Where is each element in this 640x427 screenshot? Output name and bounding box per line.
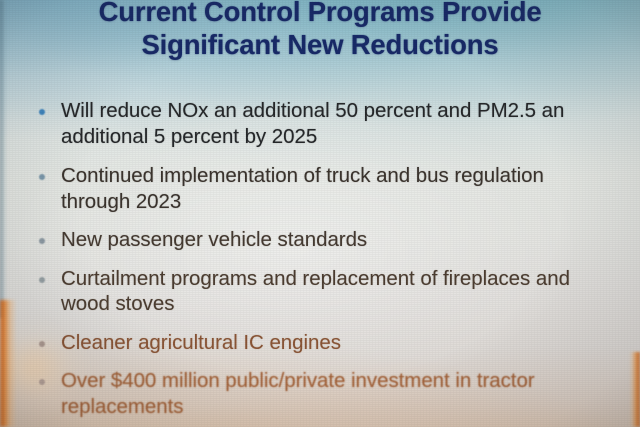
bullet-item-tractor-replacements: Over $400 million public/private investm… — [30, 368, 618, 419]
presentation-slide-photo: Current Control Programs Provide Signifi… — [0, 0, 640, 427]
bullet-list: Will reduce NOx an additional 50 percent… — [30, 98, 618, 419]
slide-content: Current Control Programs Provide Signifi… — [0, 0, 640, 427]
slide-title-line-1: Current Control Programs Provide — [0, 0, 640, 28]
bullet-item-agricultural-ic-engines: Cleaner agricultural IC engines — [30, 330, 618, 356]
bullet-dot-icon — [39, 109, 45, 115]
bullet-item-truck-bus-regulation: Continued implementation of truck and bu… — [30, 163, 618, 214]
slide-title: Current Control Programs Provide Signifi… — [0, 0, 640, 61]
bullet-text: Continued implementation of truck and bu… — [61, 163, 618, 214]
bullet-dot-icon — [39, 238, 45, 244]
bullet-text: New passenger vehicle standards — [61, 227, 618, 253]
bullet-item-curtailment-fireplaces: Curtailment programs and replacement of … — [30, 266, 618, 317]
bullet-dot-icon — [39, 379, 45, 385]
bullet-text: Will reduce NOx an additional 50 percent… — [61, 98, 618, 149]
bullet-dot-icon — [39, 341, 45, 347]
bullet-text: Cleaner agricultural IC engines — [61, 330, 618, 356]
slide-title-line-2: Significant New Reductions — [0, 28, 640, 61]
bullet-dot-icon — [39, 174, 45, 180]
bullet-item-passenger-vehicle-standards: New passenger vehicle standards — [30, 227, 618, 253]
bullet-dot-icon — [39, 277, 45, 283]
bullet-text: Curtailment programs and replacement of … — [61, 266, 618, 317]
bullet-item-nox-pm25-reduction: Will reduce NOx an additional 50 percent… — [30, 98, 618, 149]
bullet-text: Over $400 million public/private investm… — [61, 368, 618, 419]
